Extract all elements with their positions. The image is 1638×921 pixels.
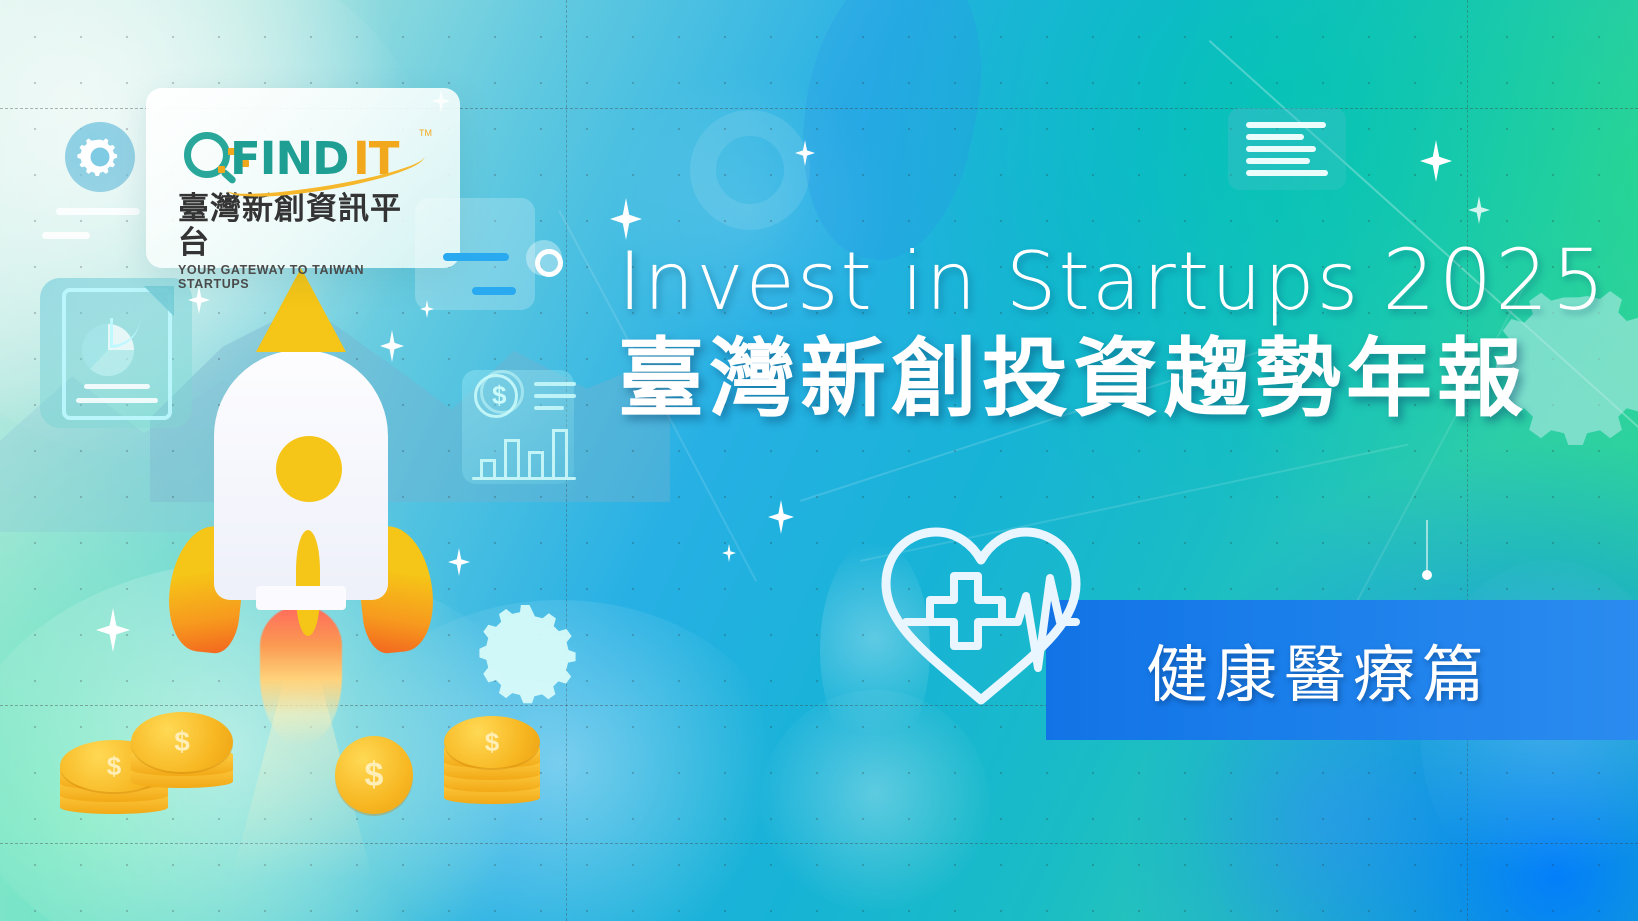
pin-dot	[1422, 570, 1432, 580]
title-year: 2025	[1382, 231, 1608, 329]
decor-bar	[472, 287, 516, 295]
decor-line	[56, 208, 140, 215]
coin-bar-chart-icon: $	[468, 362, 580, 488]
coin: $	[131, 712, 233, 772]
rocket-icon	[168, 268, 434, 618]
section-banner-label: 健康醫療篇	[1146, 624, 1491, 714]
rocket-stripe	[296, 530, 320, 636]
findit-logo: FIND IT TM 臺灣新創資訊平台 YOUR GATEWAY TO TAIW…	[178, 126, 428, 251]
pin-stem	[1426, 520, 1428, 570]
heart-medical-pulse-icon	[872, 518, 1090, 710]
decor-bar	[443, 253, 509, 261]
ring-icon	[526, 240, 562, 276]
logo-chinese-name: 臺灣新創資訊平台	[178, 192, 428, 260]
gear-icon	[65, 122, 135, 192]
text-document-icon	[1228, 108, 1346, 190]
rocket-base	[256, 586, 346, 610]
page-title-english: Invest in Startups2025	[618, 238, 1608, 322]
page-title-chinese: 臺灣新創投資趨勢年報	[618, 336, 1528, 422]
title-english-text: Invest in Startups	[618, 235, 1360, 328]
coin: $	[335, 736, 413, 814]
document-chart-icon	[62, 288, 172, 420]
logo-tagline: YOUR GATEWAY TO TAIWAN STARTUPS	[178, 263, 428, 291]
decor-line	[42, 232, 90, 239]
gear-badge	[65, 122, 135, 192]
logo-trademark: TM	[419, 128, 432, 138]
gear-icon	[476, 596, 592, 712]
rocket-window	[276, 436, 342, 502]
coin: $	[444, 716, 540, 768]
report-cover: FIND IT TM 臺灣新創資訊平台 YOUR GATEWAY TO TAIW…	[0, 0, 1638, 921]
